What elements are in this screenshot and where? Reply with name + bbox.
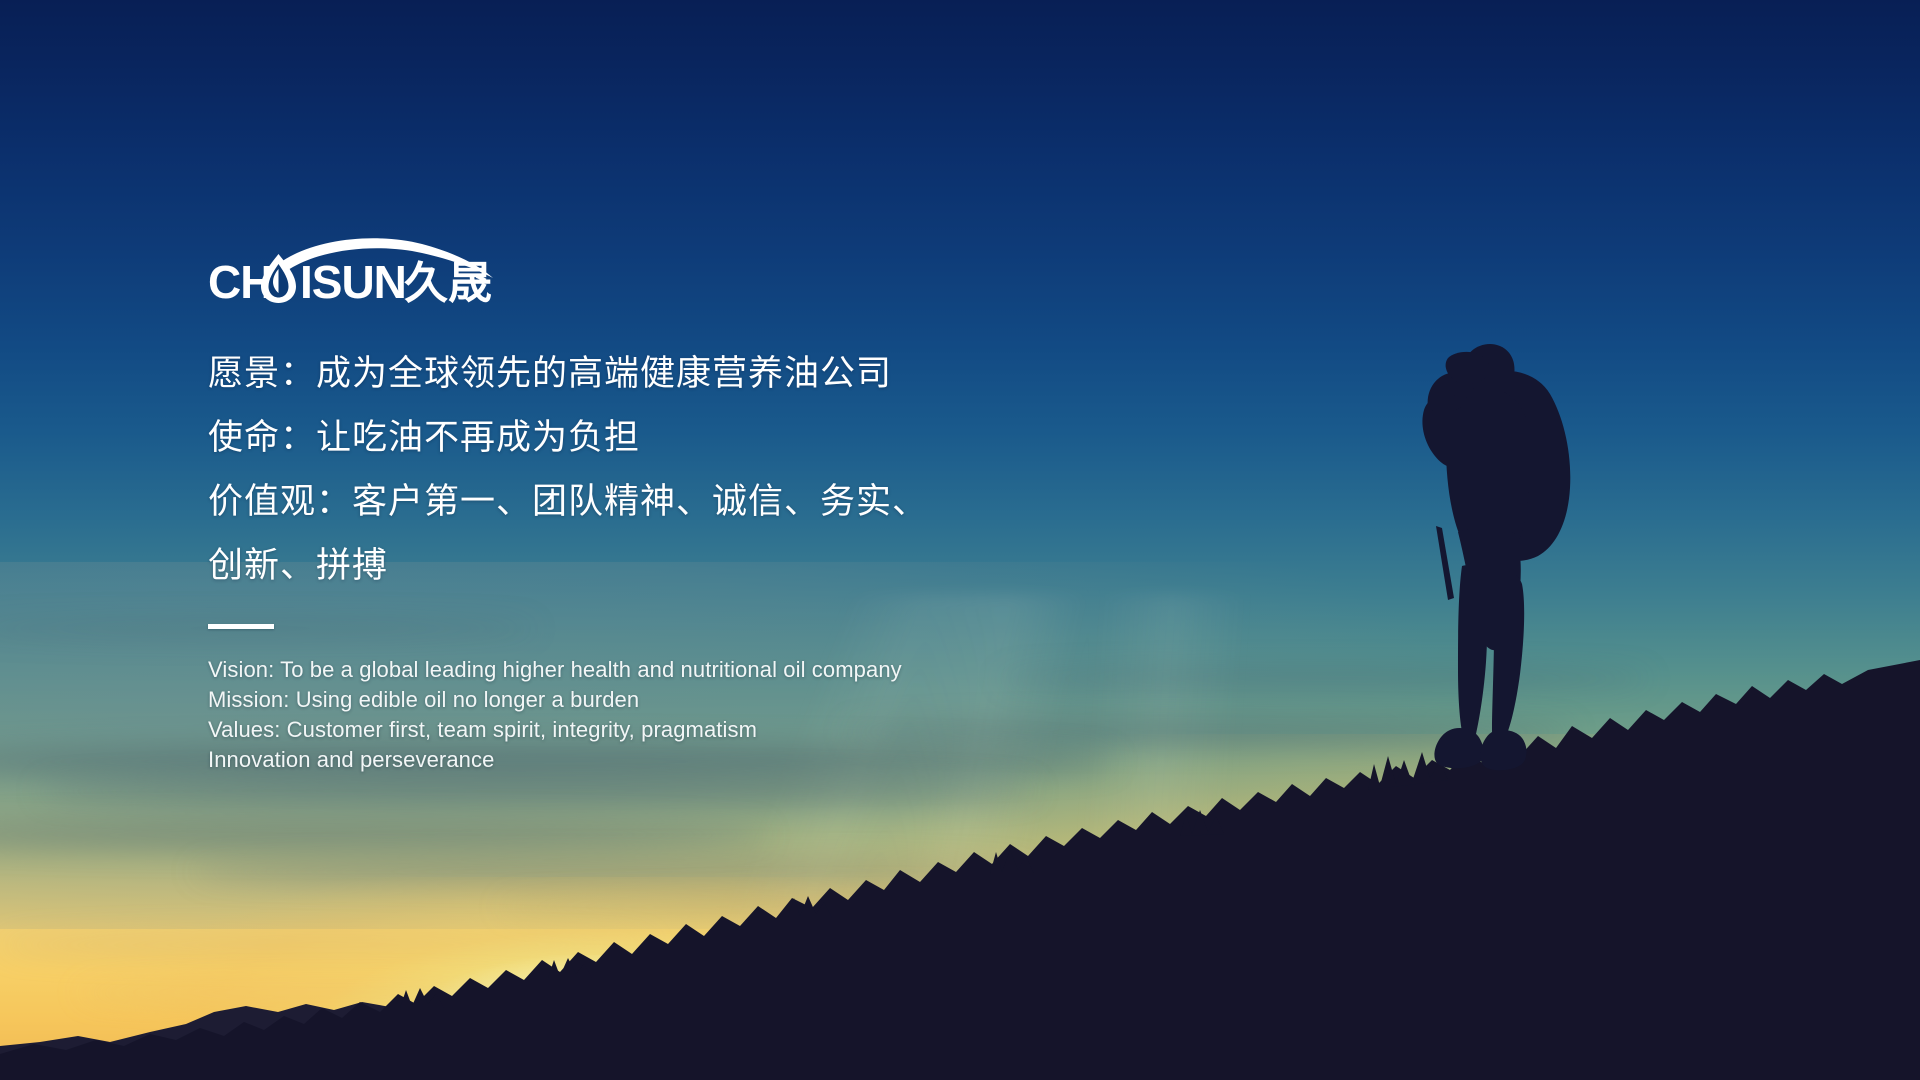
statement-cn-values-2: 创新、拼搏 — [208, 534, 1168, 598]
brand-logo[interactable]: CH ISUN 久晟 — [208, 236, 548, 316]
statement-cn-vision: 愿景：成为全球领先的高端健康营养油公司 — [208, 342, 1168, 406]
content-block: CH ISUN 久晟 愿景：成为全球领先的高端健康营养油公司 使命：让吃油不再成… — [208, 236, 1168, 775]
statement-en-vision: Vision: To be a global leading higher he… — [208, 655, 1168, 685]
statement-cn: 愿景：成为全球领先的高端健康营养油公司 使命：让吃油不再成为负担 价值观：客户第… — [208, 342, 1168, 598]
hiker-with-backpack-silhouette — [1392, 336, 1612, 786]
statement-cn-mission: 使命：让吃油不再成为负担 — [208, 406, 1168, 470]
logo-cn-text: 久晟 — [404, 258, 492, 309]
statement-cn-values-1: 价值观：客户第一、团队精神、诚信、务实、 — [208, 470, 1168, 534]
slide-canvas: CH ISUN 久晟 愿景：成为全球领先的高端健康营养油公司 使命：让吃油不再成… — [0, 0, 1920, 1080]
statement-en-values-2: Innovation and perseverance — [208, 745, 1168, 775]
choisun-wordmark: CH ISUN — [208, 256, 406, 308]
statement-en: Vision: To be a global leading higher he… — [208, 655, 1168, 775]
statement-en-mission: Mission: Using edible oil no longer a bu… — [208, 685, 1168, 715]
section-divider — [208, 624, 274, 629]
statement-en-values-1: Values: Customer first, team spirit, int… — [208, 715, 1168, 745]
svg-text:ISUN: ISUN — [300, 256, 406, 308]
choisun-logo-mark: CH ISUN 久晟 — [208, 236, 548, 316]
